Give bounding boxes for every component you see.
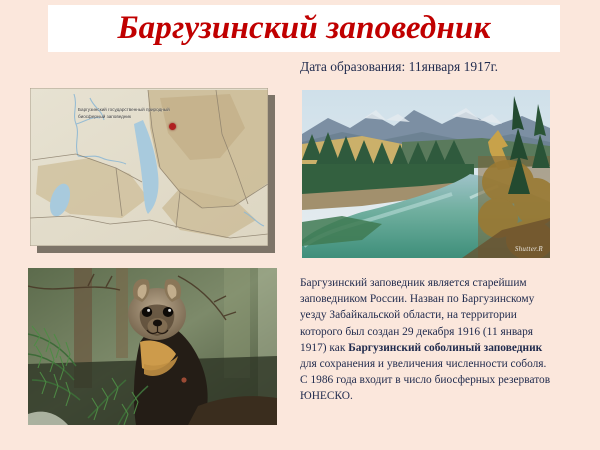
map-reserve-label: Баргузинский государственный природный б… xyxy=(78,107,196,120)
map-figure: Баргузинский государственный природный б… xyxy=(30,88,268,246)
description-paragraph: Баргузинский заповедник является старейш… xyxy=(300,275,552,405)
presentation-slide: Баргузинский заповедник Дата образования… xyxy=(0,0,600,450)
map-label-line-1: Баргузинский государственный xyxy=(78,107,145,112)
description-part-2: для сохранения и увеличения численности … xyxy=(300,358,550,402)
photo-signature-watermark: Shutter.R xyxy=(515,245,543,253)
reserve-official-name: Баргузинский соболиный заповедник xyxy=(348,342,542,354)
sable-animal-photo xyxy=(28,268,277,425)
foundation-date-text: Дата образования: 11января 1917г. xyxy=(300,59,498,75)
river-landscape-photo: Shutter.R xyxy=(302,90,550,258)
title-banner: Баргузинский заповедник xyxy=(48,5,560,52)
map-location-marker-icon xyxy=(169,123,176,130)
page-title: Баргузинский заповедник xyxy=(118,12,491,45)
